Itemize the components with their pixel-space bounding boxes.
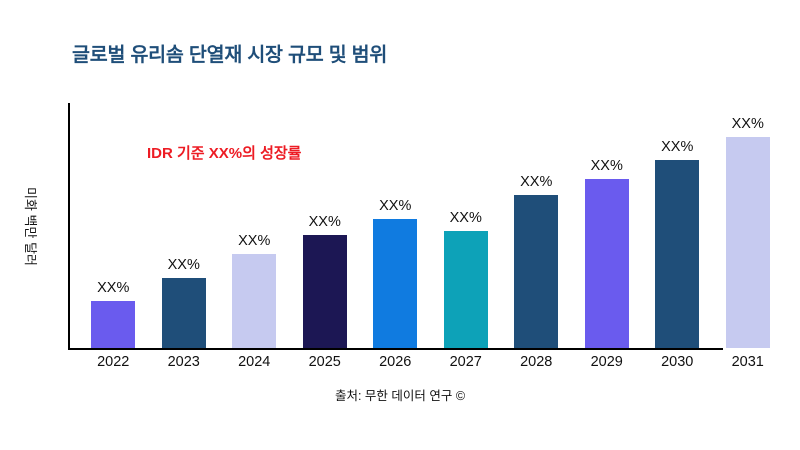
bar-2026[interactable]: XX%	[373, 219, 417, 348]
bar-value-label: XX%	[238, 233, 270, 249]
bar-value-label: XX%	[309, 214, 341, 230]
bar-value-label: XX%	[450, 210, 482, 226]
x-tick-2024: 2024	[238, 354, 270, 370]
x-tick-2029: 2029	[591, 354, 623, 370]
bar-value-label: XX%	[168, 257, 200, 273]
growth-rate-annotation: IDR 기준 XX%의 성장률	[147, 142, 301, 163]
bar-value-label: XX%	[732, 116, 764, 132]
source-note: 출처: 무한 데이터 연구 ©	[0, 385, 800, 404]
bar-2024[interactable]: XX%	[232, 254, 276, 348]
bar-chart: 글로벌 유리솜 단열재 시장 규모 및 범위 미화 백만 달러 XX%XX%XX…	[0, 0, 800, 450]
bar-value-label: XX%	[97, 280, 129, 296]
y-axis-line	[68, 103, 70, 350]
bar-2027[interactable]: XX%	[444, 231, 488, 349]
x-tick-2031: 2031	[732, 354, 764, 370]
x-tick-2025: 2025	[309, 354, 341, 370]
x-tick-2030: 2030	[661, 354, 693, 370]
x-tick-2022: 2022	[97, 354, 129, 370]
bar-value-label: XX%	[661, 139, 693, 155]
bar-2029[interactable]: XX%	[585, 179, 629, 348]
x-tick-2028: 2028	[520, 354, 552, 370]
x-tick-2027: 2027	[450, 354, 482, 370]
bar-value-label: XX%	[591, 158, 623, 174]
x-axis-line	[68, 348, 723, 350]
x-tick-2023: 2023	[168, 354, 200, 370]
bar-2031[interactable]: XX%	[726, 137, 770, 349]
page-title: 글로벌 유리솜 단열재 시장 규모 및 범위	[72, 38, 387, 67]
plot-area: XX%XX%XX%XX%XX%XX%XX%XX%XX%XX%	[68, 103, 780, 350]
bar-value-label: XX%	[379, 198, 411, 214]
bar-2023[interactable]: XX%	[162, 278, 206, 349]
bar-2030[interactable]: XX%	[655, 160, 699, 348]
bar-2025[interactable]: XX%	[303, 235, 347, 348]
bar-value-label: XX%	[520, 174, 552, 190]
x-tick-2026: 2026	[379, 354, 411, 370]
bar-2022[interactable]: XX%	[91, 301, 135, 348]
y-axis-label-container: 미화 백만 달러	[0, 103, 62, 350]
bar-2028[interactable]: XX%	[514, 195, 558, 348]
y-axis-label: 미화 백만 달러	[22, 187, 41, 266]
